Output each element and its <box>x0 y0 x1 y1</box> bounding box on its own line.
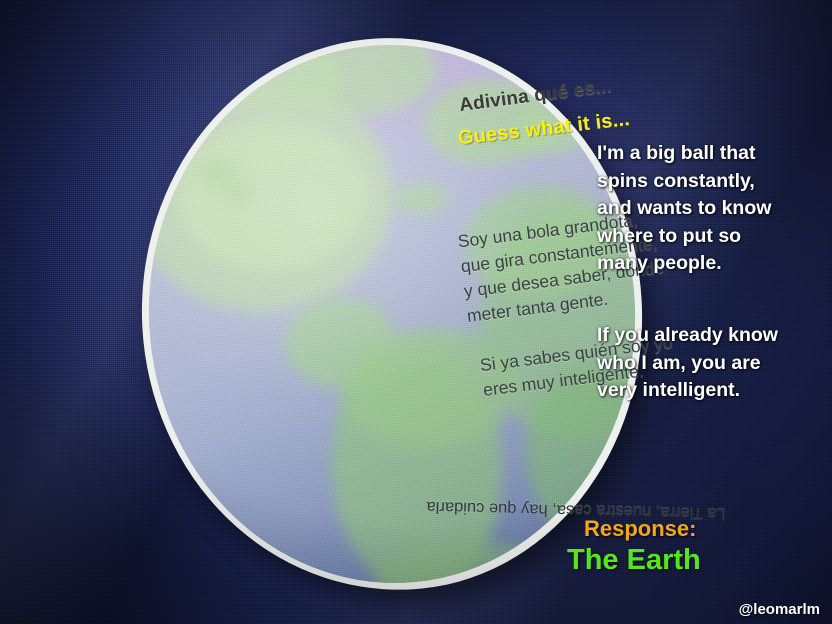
caption-translation-1: I'm a big ball that spins constantly, an… <box>597 140 771 278</box>
photo-vignette <box>0 0 832 624</box>
answer-value: The Earth <box>567 544 701 577</box>
answer-label: Response: <box>584 516 696 542</box>
caption-translation-2: If you already know who I am, you are ve… <box>597 322 778 405</box>
watermark-handle: @leomarlm <box>739 601 820 618</box>
photo-canvas: Adivina qué es... Guess what it is... So… <box>0 0 832 624</box>
